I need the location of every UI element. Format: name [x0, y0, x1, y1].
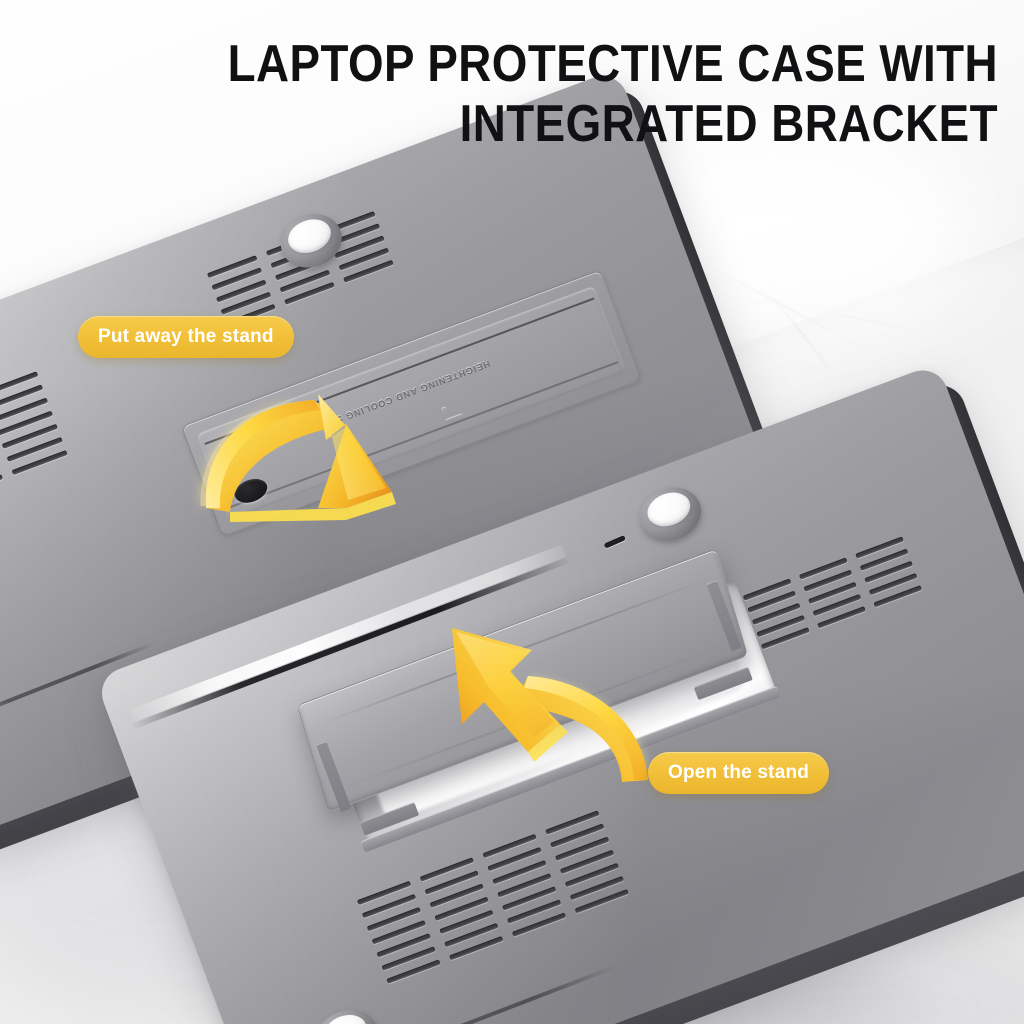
- headline-line-2: INTEGRATED BRACKET: [120, 94, 998, 154]
- product-image-stage: LAPTOP PROTECTIVE CASE WITH INTEGRATED B…: [0, 0, 1024, 1024]
- headline-line-1: LAPTOP PROTECTIVE CASE WITH: [120, 34, 998, 94]
- badge-open-the-stand[interactable]: Open the stand: [648, 752, 829, 794]
- headline: LAPTOP PROTECTIVE CASE WITH INTEGRATED B…: [0, 34, 998, 154]
- arrow-put-away-stand: [196, 388, 436, 528]
- arrow-open-stand: [436, 620, 676, 800]
- badge-put-away-the-stand[interactable]: Put away the stand: [78, 316, 294, 358]
